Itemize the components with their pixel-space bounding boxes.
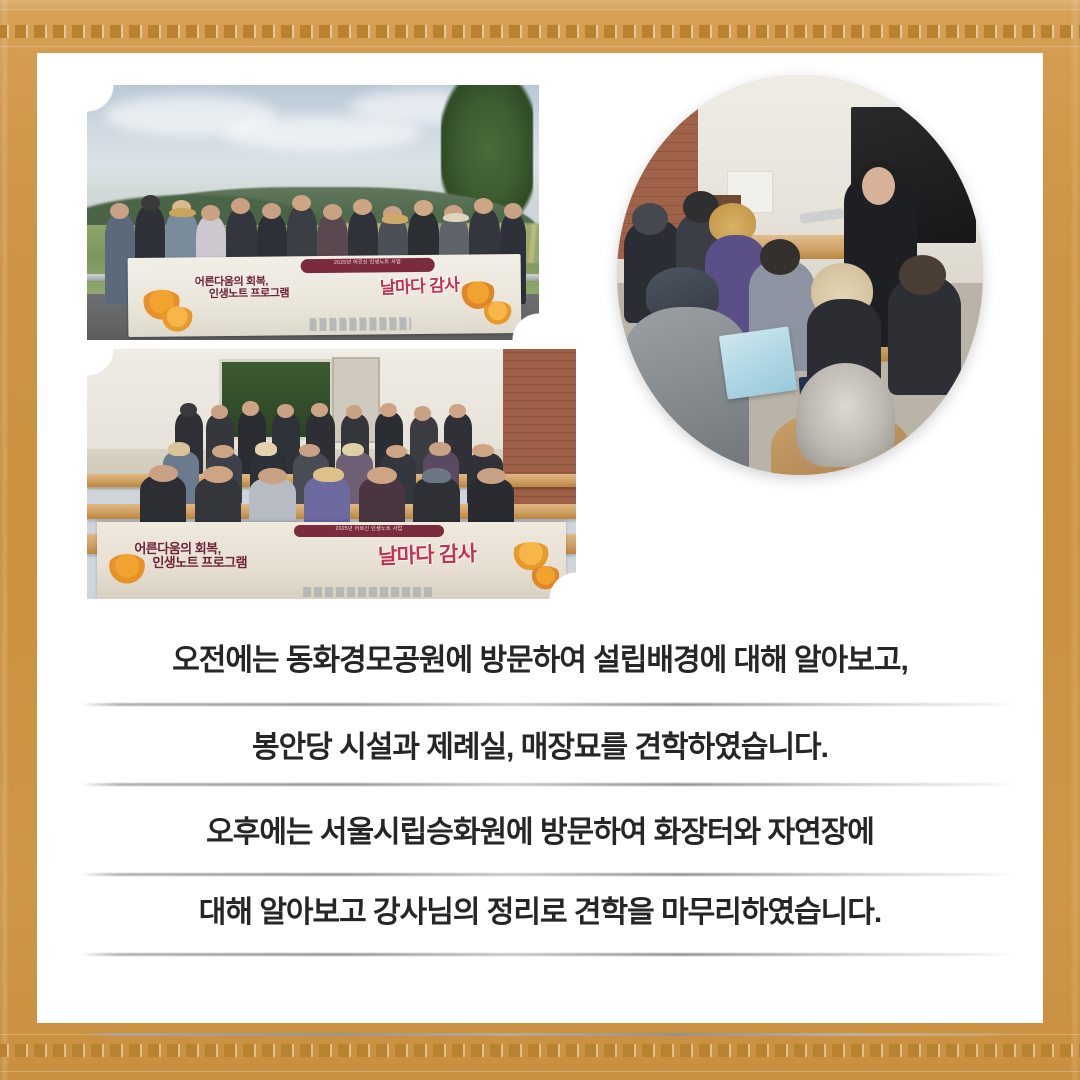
banner-sponsor-logos [303,587,434,598]
person-head [477,468,506,485]
banner-accent-text: 날마다 감사 [378,537,477,570]
cap [422,468,451,484]
person-head [323,204,342,220]
frame-hairline-top-outer [0,9,1080,10]
banner-pill-text: 2025년 어르신 인생노트 사업 [294,525,444,535]
person-head [311,403,328,417]
straw-hat [342,443,364,456]
text-line-2: 봉안당 시설과 제례실, 매장묘를 견학하였습니다. [37,703,1043,793]
person-head [277,404,294,418]
banner-sponsor-logos [309,317,411,331]
text-line-2-content: 봉안당 시설과 제례실, 매장묘를 견학하였습니다. [252,733,828,763]
attendee-gray-hair [796,363,895,467]
text-line-4: 대해 알아보고 강사님의 정리로 견학을 마무리하였습니다. [37,873,1043,953]
text-line-3: 오후에는 서울시립승화원에 방문하여 화장터와 자연장에 [37,793,1043,873]
banner-accent-text: 날마다 감사 [379,270,459,299]
person-head [149,465,178,482]
person-head [203,466,232,483]
person-head [504,203,522,219]
person-head [110,203,129,219]
person-head [353,199,372,215]
person-head [386,445,408,458]
person-head [231,198,250,214]
text-line-4-content: 대해 알아보고 강사님의 정리로 견학을 마무리하였습니다. [199,898,881,928]
straw-hat [382,214,408,223]
poster-card: 2025년 어르신 인생노트 사업 어른다움의 회복, 인생노트 프로그램 날마… [0,0,1080,1080]
straw-hat [168,442,190,455]
banner-headline: 어른다움의 회복, 인생노트 프로그램 [134,542,369,571]
flower [482,301,514,325]
banner-headline-line2: 인생노트 프로그램 [134,556,369,571]
outdoor-group-photo[interactable]: 2025년 어르신 인생노트 사업 어른다움의 회복, 인생노트 프로그램 날마… [87,85,539,340]
text-line-1: 오전에는 동화경모공원에 방문하여 설립배경에 대해 알아보고, [37,619,1043,703]
person-head [180,403,197,417]
banner-headline-line2: 인생노트 프로그램 [194,287,371,301]
bucket-hat [443,213,469,222]
straw-hat [255,442,277,455]
frame-stitch-top [0,25,1080,38]
person-head [414,200,433,216]
attendee-head [899,255,947,295]
person-head [212,445,234,458]
attendee-head [632,203,669,235]
program-banner: 2025년 어르신 인생노트 사업 어른다움의 회복, 인생노트 프로그램 날마… [97,522,566,600]
person-head [141,195,160,211]
person-head [367,467,396,484]
person-head [242,401,259,415]
person-head [262,203,281,219]
flower [159,306,195,332]
person-head [474,198,493,214]
flower [529,566,562,589]
indoor-group-photo[interactable]: 2025년 어르신 인생노트 사업 어른다움의 회복, 인생노트 프로그램 날마… [87,349,576,599]
description-text-block: 오전에는 동화경모공원에 방문하여 설립배경에 대해 알아보고, 봉안당 시설과… [37,619,1043,1023]
flower [510,542,552,570]
attendee-head [760,239,800,275]
frame-hairline-bottom-outer [0,1071,1080,1072]
banner-pill-text: 2025년 어르신 인생노트 사업 [300,258,434,269]
straw-hat [169,208,196,218]
lecture-photo[interactable] [617,75,983,475]
banner-pill: 2025년 어르신 인생노트 사업 [300,258,434,273]
text-rule [81,1033,1015,1036]
text-line-1-content: 오전에는 동화경모공원에 방문하여 설립배경에 대해 알아보고, [172,646,908,676]
person-head [429,442,451,455]
banner-headline: 어른다움의 회복, 인생노트 프로그램 [194,274,371,300]
lecturer-head [862,167,895,205]
photo-collage: 2025년 어르신 인생노트 사업 어른다움의 회복, 인생노트 프로그램 날마… [37,53,1043,613]
text-rule [81,953,1015,956]
booklet [719,326,797,399]
white-content-card: 2025년 어르신 인생노트 사업 어른다움의 회복, 인생노트 프로그램 날마… [37,53,1043,1023]
banner-pill: 2025년 어르신 인생노트 사업 [294,525,444,537]
frame-hairline-top-inner [0,46,1080,47]
frame-top-sheen [0,0,1080,14]
person-head [449,404,466,418]
program-banner: 2025년 어르신 인생노트 사업 어른다움의 회복, 인생노트 프로그램 날마… [127,254,521,337]
banner-headline-line1: 어른다움의 회복, [134,542,369,557]
text-line-3-content: 오후에는 서울시립승화원에 방문하여 화장터와 자연장에 [206,818,874,848]
person-head [414,406,431,420]
straw-hat [313,467,345,483]
frame-stitch-bottom [0,1044,1080,1057]
